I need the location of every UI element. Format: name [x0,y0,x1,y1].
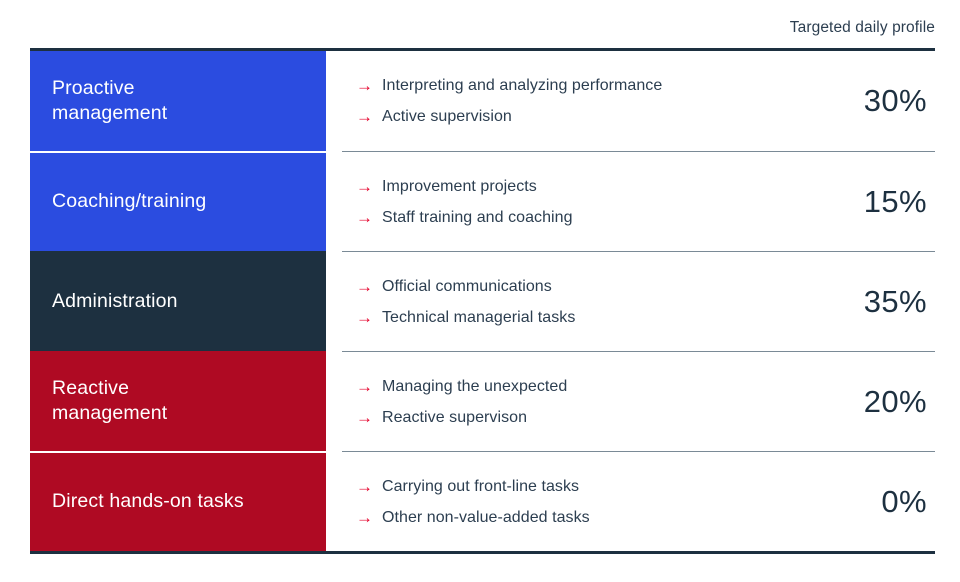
arrow-right-icon: → [356,475,373,499]
list-item: → Other non-value-added tasks [356,505,777,530]
arrow-right-icon: → [356,206,373,230]
activity-text: Active supervision [382,105,512,129]
row-percentage: 15% [785,151,935,251]
row-activities: → Improvement projects → Staff training … [342,151,785,251]
activity-text: Technical managerial tasks [382,306,575,330]
arrow-right-icon: → [356,306,373,330]
table-row: Proactive management → Interpreting and … [30,51,935,151]
list-item: → Interpreting and analyzing performance [356,73,777,98]
table-row: Direct hands-on tasks → Carrying out fro… [30,451,935,551]
arrow-right-icon: → [356,506,373,530]
activity-text: Managing the unexpected [382,375,567,399]
arrow-right-icon: → [356,175,373,199]
row-category-label: Direct hands-on tasks [52,489,244,514]
activity-profile-table: Targeted daily profile Proactive managem… [0,0,960,582]
row-activities: → Interpreting and analyzing performance… [342,51,785,151]
arrow-right-icon: → [356,275,373,299]
row-percentage: 35% [785,251,935,351]
row-category-block: Administration [30,251,326,351]
row-percentage: 0% [785,451,935,551]
activity-text: Other non-value-added tasks [382,506,590,530]
block-separator [30,151,326,153]
percentage-value: 15% [864,184,927,220]
row-category-label: Proactive management [52,76,167,126]
activity-text: Improvement projects [382,175,537,199]
row-category-block: Reactive management [30,351,326,451]
column-gutter [326,51,342,151]
list-item: → Managing the unexpected [356,374,777,399]
row-category-block: Direct hands-on tasks [30,451,326,551]
table-header: Targeted daily profile [30,18,935,46]
column-gutter [326,151,342,251]
block-separator [30,451,326,453]
activity-text: Staff training and coaching [382,206,573,230]
row-activities: → Carrying out front-line tasks → Other … [342,451,785,551]
row-percentage: 20% [785,351,935,451]
column-gutter [326,451,342,551]
list-item: → Improvement projects [356,174,777,199]
row-category-block: Proactive management [30,51,326,151]
arrow-right-icon: → [356,406,373,430]
row-activities: → Managing the unexpected → Reactive sup… [342,351,785,451]
percentage-value: 20% [864,384,927,420]
column-gutter [326,351,342,451]
activity-text: Reactive supervison [382,406,527,430]
activity-text: Interpreting and analyzing performance [382,74,662,98]
activity-text: Official communications [382,275,552,299]
percentage-value: 0% [881,484,927,520]
list-item: → Reactive supervison [356,405,777,430]
row-percentage: 30% [785,51,935,151]
list-item: → Official communications [356,274,777,299]
percentage-value: 35% [864,284,927,320]
list-item: → Staff training and coaching [356,205,777,230]
list-item: → Active supervision [356,104,777,129]
targeted-daily-profile-label: Targeted daily profile [790,18,935,38]
arrow-right-icon: → [356,74,373,98]
table-row: Reactive management → Managing the unexp… [30,351,935,451]
arrow-right-icon: → [356,375,373,399]
list-item: → Technical managerial tasks [356,305,777,330]
list-item: → Carrying out front-line tasks [356,474,777,499]
row-category-label: Administration [52,289,178,314]
row-category-label: Coaching/training [52,189,206,214]
row-activities: → Official communications → Technical ma… [342,251,785,351]
table-row: Coaching/training → Improvement projects… [30,151,935,251]
arrow-right-icon: → [356,105,373,129]
percentage-value: 30% [864,83,927,119]
table-row: Administration → Official communications… [30,251,935,351]
column-gutter [326,251,342,351]
profile-table-body: Proactive management → Interpreting and … [30,48,935,554]
row-category-block: Coaching/training [30,151,326,251]
row-category-label: Reactive management [52,376,167,426]
activity-text: Carrying out front-line tasks [382,475,579,499]
